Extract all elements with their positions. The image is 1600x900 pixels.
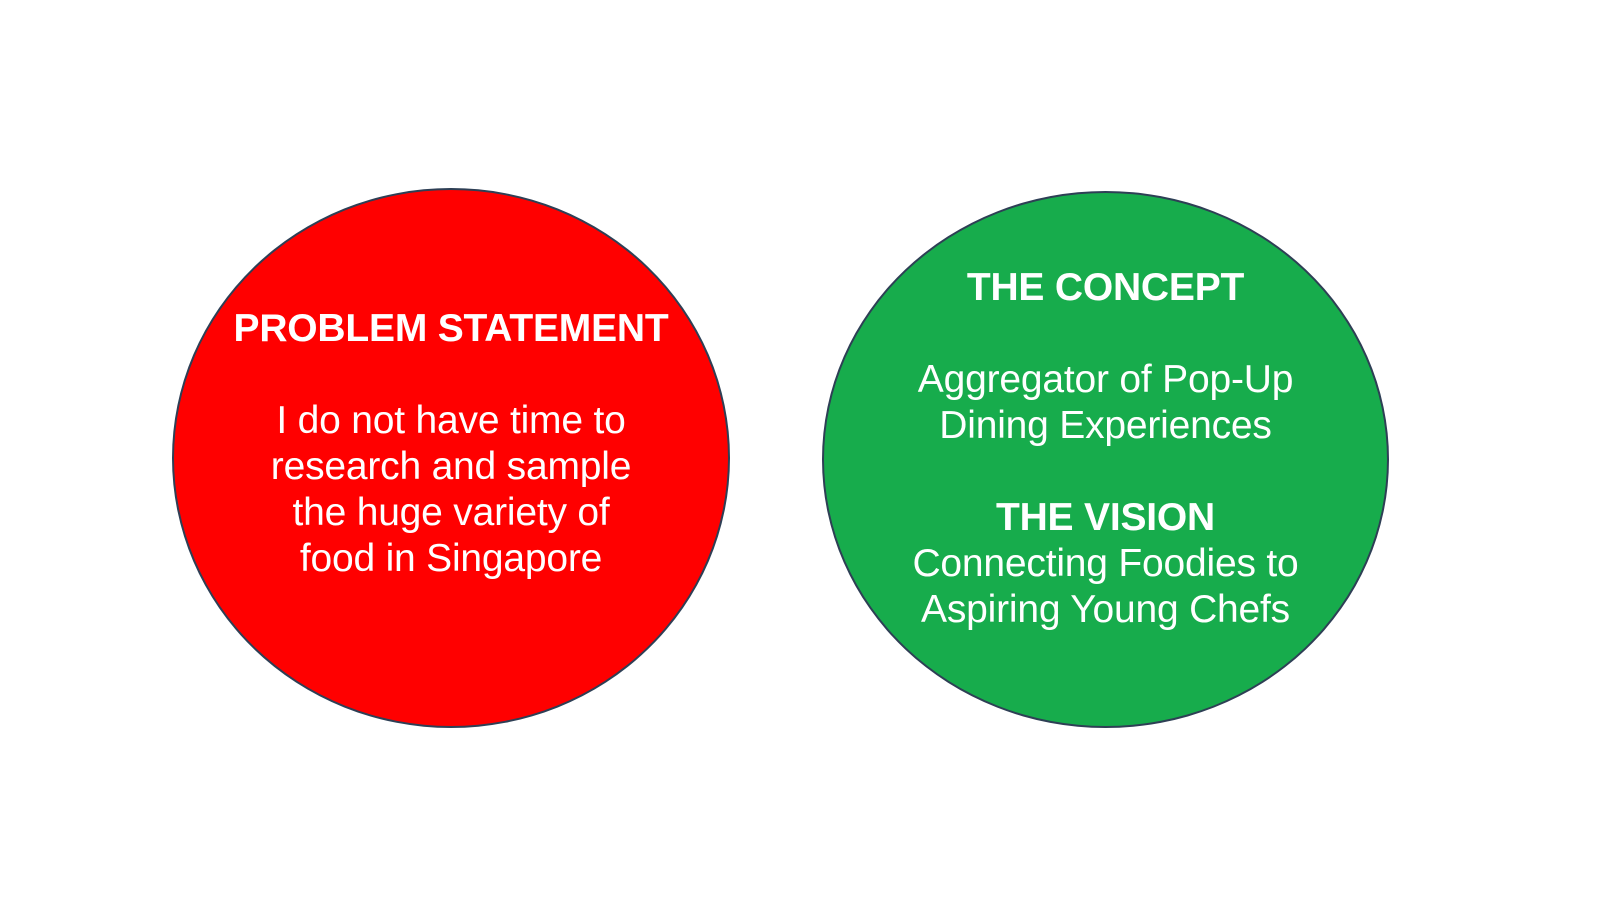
concept-heading: THE CONCEPT (967, 265, 1244, 311)
concept-line-2: Dining Experiences (939, 403, 1271, 449)
problem-statement-line-4: food in Singapore (300, 536, 602, 582)
vision-line-1: Connecting Foodies to (912, 541, 1298, 587)
vision-line-2: Aspiring Young Chefs (921, 587, 1290, 633)
diagram-canvas: PROBLEM STATEMENT I do not have time to … (0, 0, 1600, 900)
problem-statement-line-3: the huge variety of (292, 490, 609, 536)
vision-heading: THE VISION (996, 495, 1215, 541)
problem-statement-line-1: I do not have time to (276, 398, 625, 444)
problem-statement-line-2: research and sample (271, 444, 631, 490)
problem-statement-text-stack: PROBLEM STATEMENT I do not have time to … (174, 306, 728, 582)
problem-statement-heading: PROBLEM STATEMENT (234, 306, 669, 352)
concept-line-1: Aggregator of Pop-Up (918, 357, 1293, 403)
problem-statement-circle[interactable]: PROBLEM STATEMENT I do not have time to … (172, 188, 730, 728)
concept-vision-circle[interactable]: THE CONCEPT Aggregator of Pop-Up Dining … (822, 191, 1389, 728)
concept-vision-text-stack: THE CONCEPT Aggregator of Pop-Up Dining … (824, 265, 1387, 633)
